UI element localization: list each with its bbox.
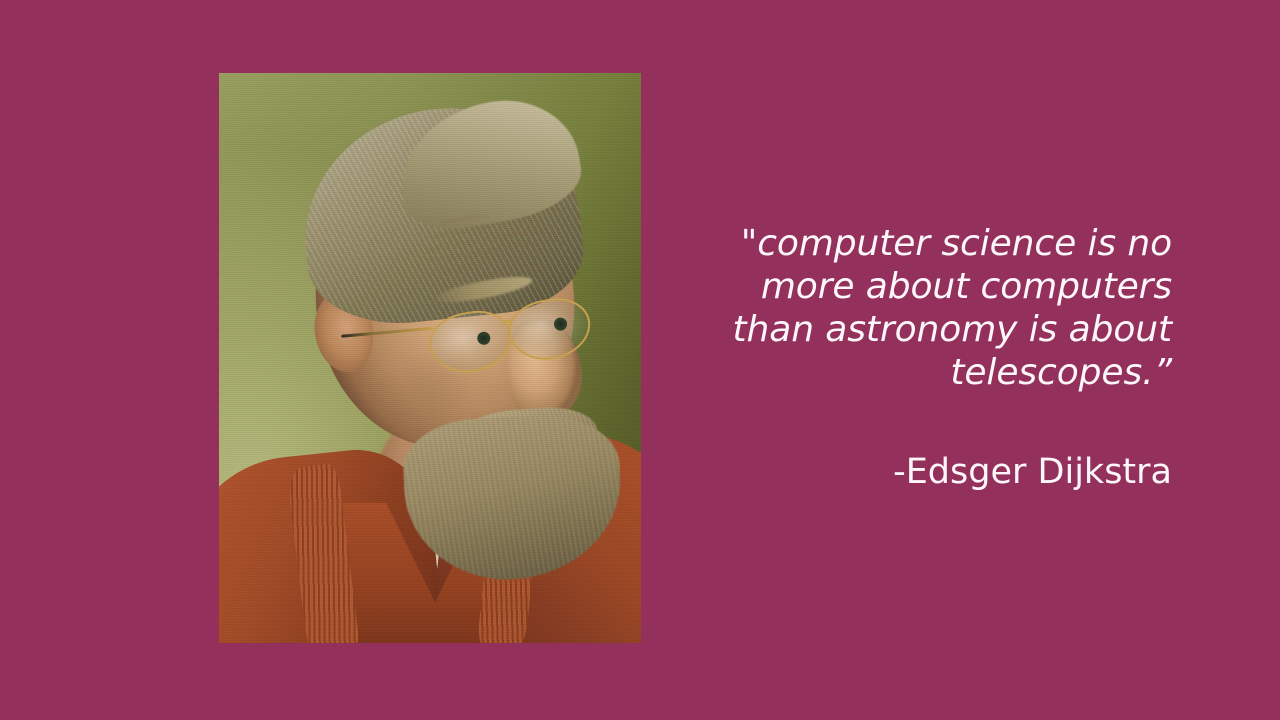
forehead-lines bbox=[427, 215, 553, 277]
quote-attribution: -Edsger Dijkstra bbox=[712, 452, 1172, 492]
glasses-lens-right bbox=[505, 293, 595, 365]
glasses-temple bbox=[341, 327, 433, 338]
quote-block: "computer science is no more about compu… bbox=[712, 222, 1172, 492]
portrait-image bbox=[219, 73, 641, 643]
portrait-photo bbox=[219, 73, 641, 643]
quote-text: "computer science is no more about compu… bbox=[712, 222, 1172, 394]
quote-slide: "computer science is no more about compu… bbox=[0, 0, 1280, 720]
glasses-lens-left bbox=[426, 306, 516, 378]
